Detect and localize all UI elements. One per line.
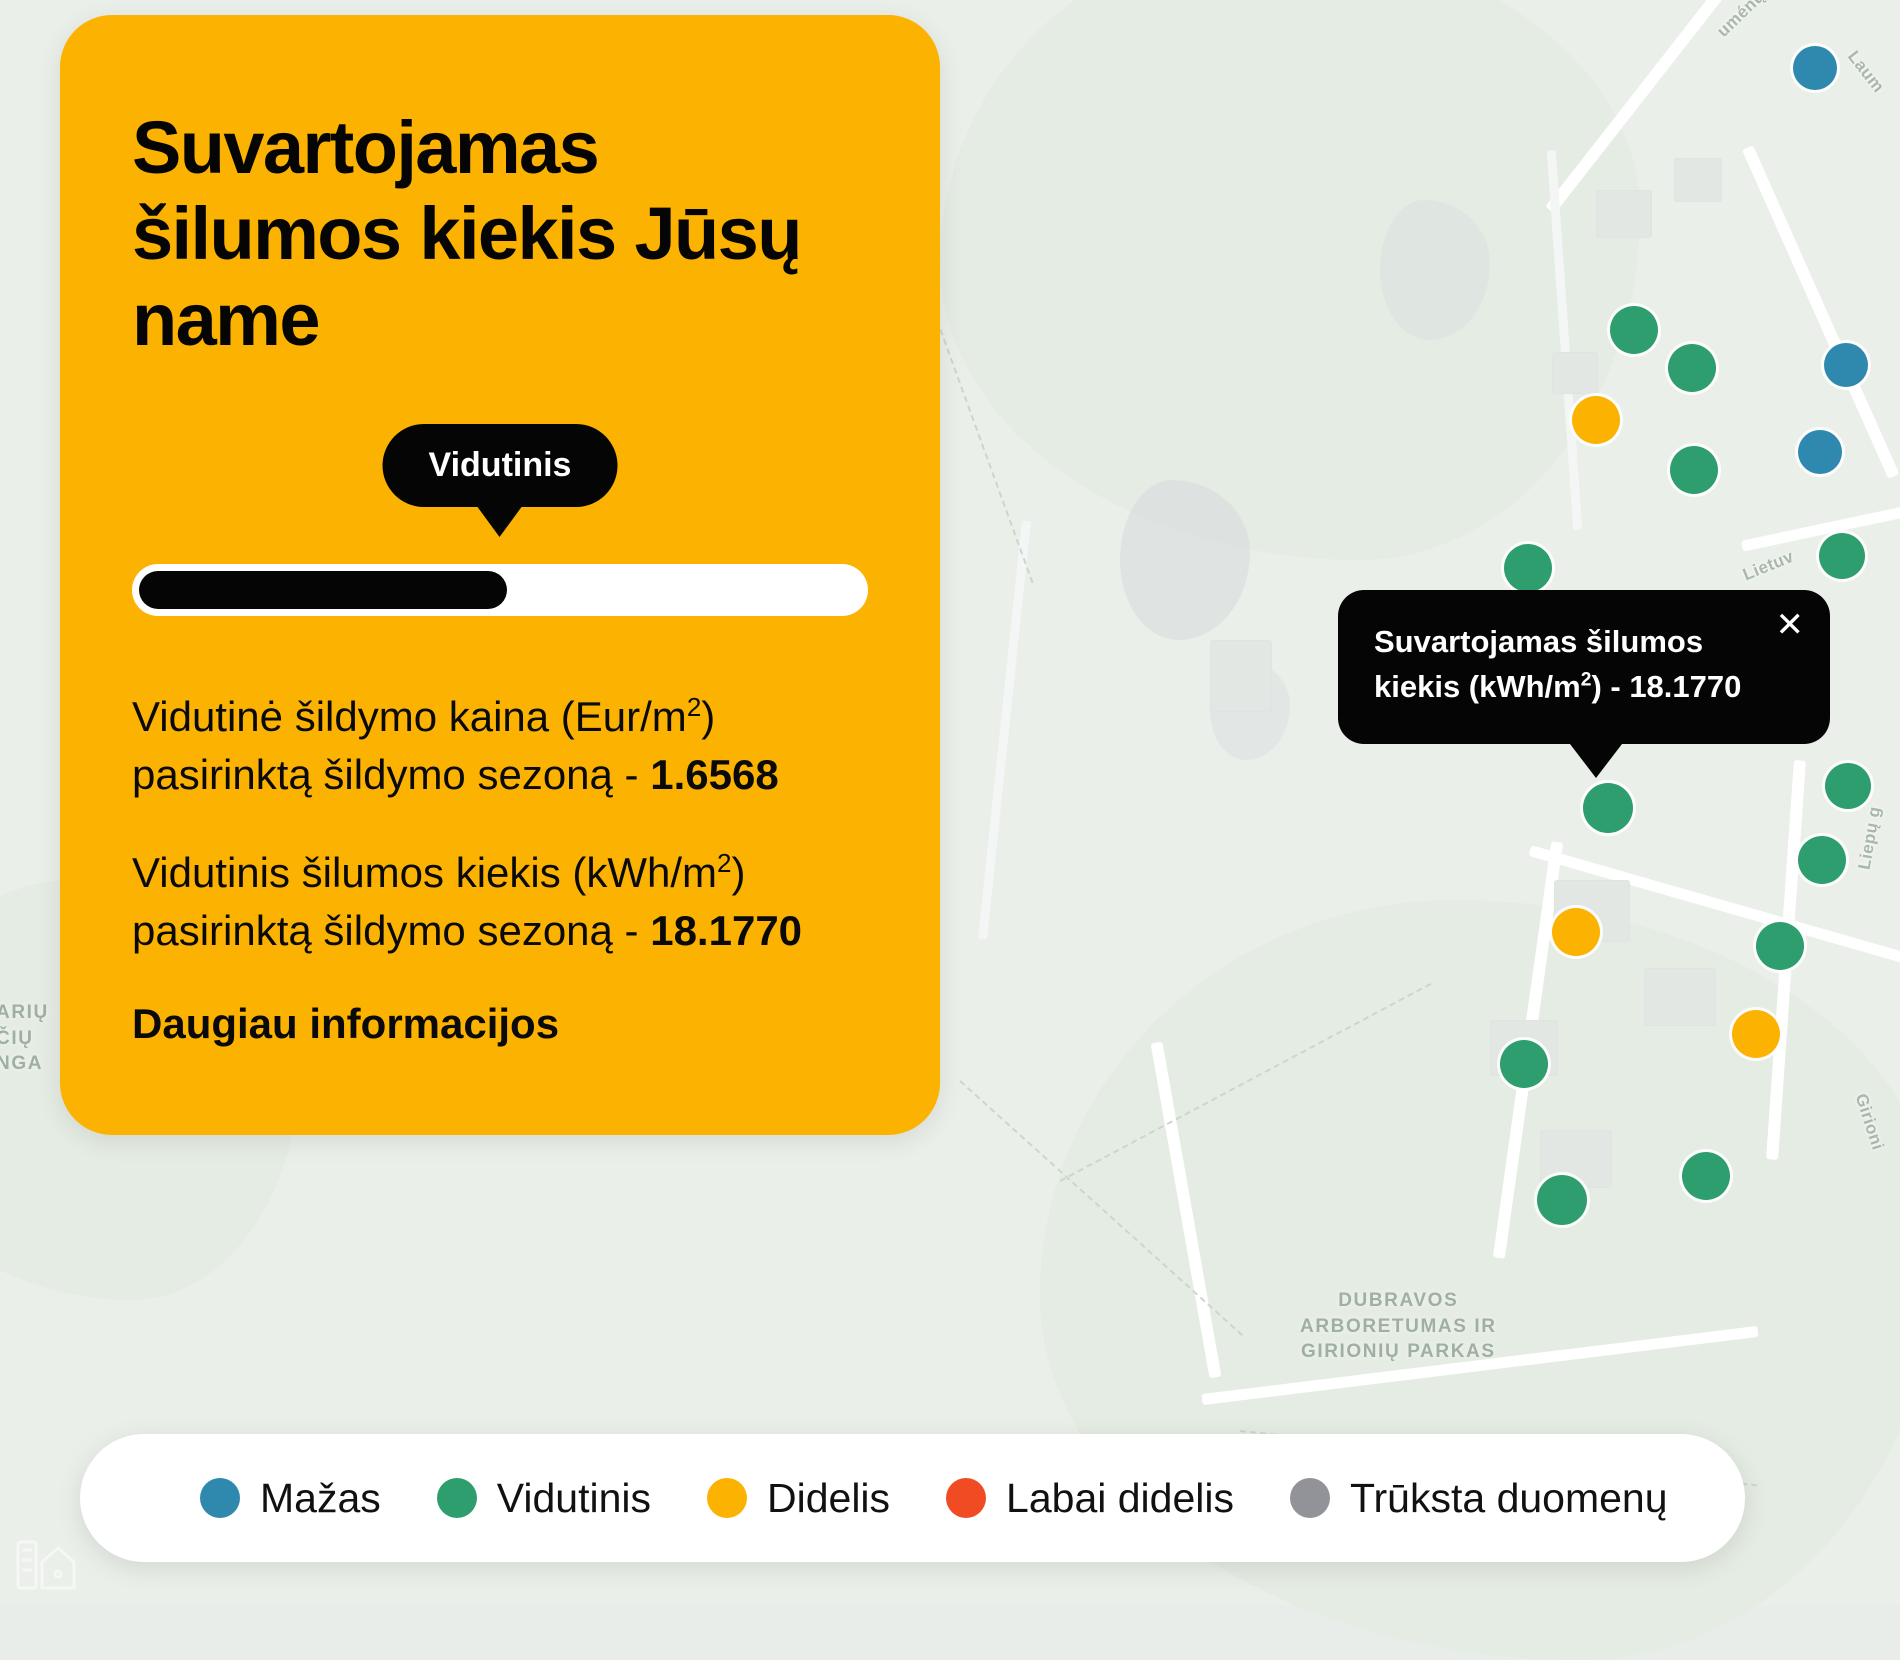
legend-item-label: Mažas [260, 1475, 381, 1522]
legend-color-dot-icon [707, 1478, 747, 1518]
more-information-link[interactable]: Daugiau informacijos [132, 1000, 559, 1048]
legend-item-label: Vidutinis [497, 1475, 651, 1522]
stat-average-price: Vidutinė šildymo kaina (Eur/m2) pasirink… [132, 688, 868, 804]
popup-value: 18.1770 [1629, 669, 1741, 704]
map-marker[interactable] [1732, 1010, 1780, 1058]
popup-text: Suvartojamas šilumos kiekis (kWh/m2) - 1… [1374, 620, 1794, 710]
map-marker[interactable] [1756, 922, 1804, 970]
legend-item-4[interactable]: Trūksta duomenų [1290, 1475, 1668, 1522]
gauge-fill [139, 571, 507, 609]
map-building [1596, 190, 1652, 238]
map-marker[interactable] [1825, 763, 1871, 809]
map-building [1552, 352, 1598, 394]
map-marker[interactable] [1552, 908, 1600, 956]
map-marker[interactable] [1668, 344, 1716, 392]
legend-item-label: Trūksta duomenų [1350, 1475, 1668, 1522]
legend-color-dot-icon [1290, 1478, 1330, 1518]
map-building [1674, 158, 1722, 202]
legend-item-label: Labai didelis [1006, 1475, 1234, 1522]
legend-color-dot-icon [200, 1478, 240, 1518]
gauge-track[interactable] [132, 564, 868, 616]
map-marker[interactable] [1500, 1040, 1548, 1088]
map-marker[interactable] [1819, 533, 1865, 579]
map-marker[interactable] [1583, 783, 1633, 833]
map-marker[interactable] [1798, 836, 1846, 884]
legend-item-3[interactable]: Labai didelis [946, 1475, 1234, 1522]
map-legend: MažasVidutinisDidelisLabai didelisTrūkst… [80, 1434, 1745, 1562]
stat-heat-value: 18.1770 [650, 907, 802, 954]
popup-superscript: 2 [1581, 670, 1592, 691]
stat-heat-label-1: Vidutinis šilumos kiekis (kWh/m [132, 849, 717, 896]
map-marker[interactable] [1682, 1152, 1730, 1200]
map-marker[interactable] [1798, 430, 1842, 474]
map-marker[interactable] [1504, 544, 1552, 592]
legend-item-2[interactable]: Didelis [707, 1475, 890, 1522]
gauge-level-badge: Vidutinis [383, 424, 618, 507]
stat-price-value: 1.6568 [650, 751, 778, 798]
map-building [1210, 640, 1272, 712]
stat-price-label-1: Vidutinė šildymo kaina (Eur/m [132, 693, 687, 740]
map-marker[interactable] [1572, 396, 1620, 444]
stat-average-heat: Vidutinis šilumos kiekis (kWh/m2) pasiri… [132, 844, 868, 960]
map-marker-popup: ✕ Suvartojamas šilumos kiekis (kWh/m2) -… [1338, 590, 1830, 744]
legend-item-label: Didelis [767, 1475, 890, 1522]
legend-item-0[interactable]: Mažas [200, 1475, 381, 1522]
map-marker[interactable] [1824, 343, 1868, 387]
stat-price-superscript: 2 [687, 692, 701, 722]
map-building [1644, 968, 1716, 1026]
legend-item-1[interactable]: Vidutinis [437, 1475, 651, 1522]
map-marker[interactable] [1610, 306, 1658, 354]
heat-consumption-card: Suvartojamas šilumos kiekis Jūsų name Vi… [60, 15, 940, 1135]
popup-text-part-2: ) - [1591, 669, 1629, 704]
close-icon[interactable]: ✕ [1776, 608, 1805, 642]
stat-heat-superscript: 2 [717, 848, 731, 878]
map-marker[interactable] [1793, 46, 1837, 90]
map-marker[interactable] [1670, 446, 1718, 494]
map-marker[interactable] [1537, 1175, 1587, 1225]
legend-color-dot-icon [946, 1478, 986, 1518]
page-title: Suvartojamas šilumos kiekis Jūsų name [132, 105, 868, 362]
legend-color-dot-icon [437, 1478, 477, 1518]
